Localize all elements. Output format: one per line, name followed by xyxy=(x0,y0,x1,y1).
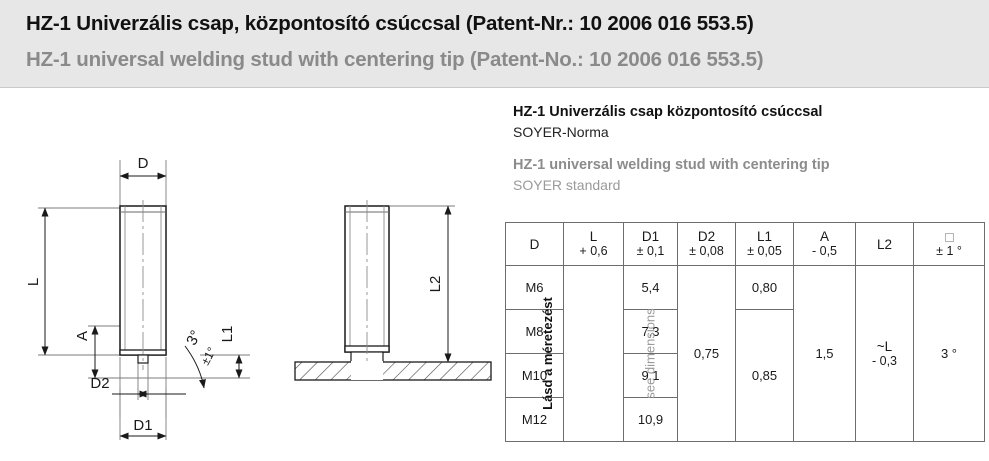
column-tolerance-D2: ± 0,08 xyxy=(678,244,735,259)
specification-table: D L + 0,6 D1 ± 0,1 D2 ± 0,08 L1 ± 0,05 A… xyxy=(505,222,985,442)
drawing-svg: D L A L1 3° ±1° xyxy=(0,88,500,456)
dimension-label-D: D xyxy=(138,155,149,172)
cell-D1-row4: 10,9 xyxy=(624,398,678,442)
page-header-band: HZ-1 Univerzális csap, központosító csúc… xyxy=(0,0,989,88)
column-tolerance-angle: ± 1 ° xyxy=(914,244,984,259)
base-plate-stud-gap xyxy=(351,362,383,380)
table-row: M6 Lásd a méretezést see dimensions 5,4 … xyxy=(506,266,985,310)
column-tolerance-L: + 0,6 xyxy=(564,244,623,259)
angle-annotation: 3° ±1° xyxy=(183,328,219,388)
column-name-L: L xyxy=(564,229,623,244)
page-title-hungarian: HZ-1 Univerzális csap, központosító csúc… xyxy=(26,12,754,36)
column-header-L2: L2 xyxy=(856,223,914,266)
angle-leader-arc xyxy=(185,346,204,388)
dimension-A: A xyxy=(74,326,95,378)
dimension-L: L xyxy=(25,208,45,355)
column-tolerance-L1: ± 0,05 xyxy=(736,244,793,259)
cell-L1-merged: 0,85 xyxy=(736,310,794,442)
page-title-english: HZ-1 universal welding stud with centeri… xyxy=(26,48,763,72)
column-tolerance-D1: ± 0,1 xyxy=(624,244,677,259)
view-welded-on-plate: L2 xyxy=(295,200,491,380)
dimension-label-L1: L1 xyxy=(219,326,236,343)
cell-angle-merged: 3 ° xyxy=(914,266,985,442)
cell-D1-row1: 5,4 xyxy=(624,266,678,310)
cell-L2-line2: - 0,3 xyxy=(856,354,913,369)
column-name-D: D xyxy=(506,237,563,252)
cell-L2-merged: ~L - 0,3 xyxy=(856,266,914,442)
caption-english-standard: SOYER standard xyxy=(513,175,943,195)
caption-hungarian-standard: SOYER-Norma xyxy=(513,122,943,142)
technical-drawing: D L A L1 3° ±1° xyxy=(0,88,500,456)
caption-hungarian-name: HZ-1 Univerzális csap központosító csúcc… xyxy=(513,103,943,122)
cell-L-note-english: see dimensions xyxy=(643,308,658,398)
column-header-L1: L1 ± 0,05 xyxy=(736,223,794,266)
dimension-label-D2: D2 xyxy=(90,375,109,392)
column-name-L1: L1 xyxy=(736,229,793,244)
dimension-label-L2: L2 xyxy=(427,276,444,293)
column-header-angle: ± 1 ° xyxy=(914,223,985,266)
dimension-D1: D1 xyxy=(120,417,166,436)
cell-D2-merged: 0,75 xyxy=(678,266,736,442)
cell-L1-row1: 0,80 xyxy=(736,266,794,310)
column-header-D: D xyxy=(506,223,564,266)
dimension-L1: L1 xyxy=(219,326,239,378)
dimension-D: D xyxy=(120,155,166,176)
dimension-label-angle: 3° xyxy=(183,328,205,349)
column-header-A: A - 0,5 xyxy=(794,223,856,266)
product-caption: HZ-1 Univerzális csap központosító csúcc… xyxy=(513,103,943,195)
dimension-label-L: L xyxy=(25,278,42,286)
table-header-row: D L + 0,6 D1 ± 0,1 D2 ± 0,08 L1 ± 0,05 A… xyxy=(506,223,985,266)
cell-L-note-hungarian: Lásd a méretezést xyxy=(540,297,555,410)
column-tolerance-A: - 0,5 xyxy=(794,244,855,259)
cell-L2-line1: ~L xyxy=(856,339,913,354)
base-plate xyxy=(295,362,491,380)
column-name-A: A xyxy=(794,229,855,244)
dimension-label-angle-tolerance: ±1° xyxy=(198,345,219,368)
column-name-D1: D1 xyxy=(624,229,677,244)
column-name-D2: D2 xyxy=(678,229,735,244)
view-side-elevation: D L A L1 3° ±1° xyxy=(25,155,250,440)
caption-english-name: HZ-1 universal welding stud with centeri… xyxy=(513,156,943,175)
dimension-L2: L2 xyxy=(389,206,455,362)
column-name-L2: L2 xyxy=(856,237,913,252)
cell-L-note: Lásd a méretezést see dimensions xyxy=(564,266,624,442)
column-header-L: L + 0,6 xyxy=(564,223,624,266)
column-header-D2: D2 ± 0,08 xyxy=(678,223,736,266)
square-glyph-icon xyxy=(945,233,954,242)
cell-A-merged: 1,5 xyxy=(794,266,856,442)
dimension-label-D1: D1 xyxy=(133,417,152,434)
dimension-label-A: A xyxy=(74,331,91,341)
column-header-D1: D1 ± 0,1 xyxy=(624,223,678,266)
